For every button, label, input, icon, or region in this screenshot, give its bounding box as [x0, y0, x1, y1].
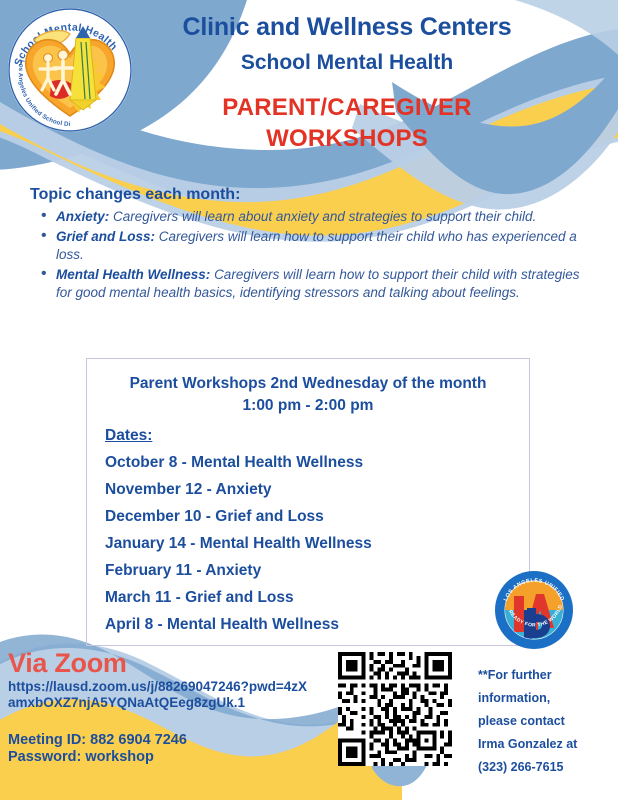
logo-icon: School Mental Health Los Angeles Unified… [4, 4, 136, 136]
schedule-date-row: March 11 - Grief and Loss [105, 589, 529, 607]
topic-description: Caregivers will learn about anxiety and … [113, 209, 536, 224]
zoom-meeting-id: Meeting ID: 882 6904 7246 [8, 732, 328, 749]
contact-line: information, [478, 687, 618, 710]
school-mental-health-logo: School Mental Health Los Angeles Unified… [4, 4, 136, 136]
schedule-date-row: December 10 - Grief and Loss [105, 508, 529, 526]
topics-list: Anxiety: Caregivers will learn about anx… [30, 208, 590, 303]
contact-line: **For further [478, 664, 618, 687]
zoom-password: Password: workshop [8, 749, 328, 766]
schedule-dates-label: Dates: [105, 427, 529, 445]
qr-code[interactable] [338, 650, 452, 768]
topic-item: Mental Health Wellness: Caregivers will … [56, 266, 590, 303]
zoom-heading: Via Zoom [8, 648, 328, 678]
schedule-date-row: October 8 - Mental Health Wellness [105, 454, 529, 472]
schedule-time: 1:00 pm - 2:00 pm [87, 395, 529, 417]
schedule-box: Parent Workshops 2nd Wednesday of the mo… [86, 358, 530, 646]
zoom-info-block: Via Zoom https://lausd.zoom.us/j/8826904… [8, 648, 328, 766]
page-title-workshops-line1: PARENT/CAREGIVER [222, 94, 471, 121]
topic-term: Grief and Loss: [56, 229, 155, 244]
contact-phone: (323) 266-7615 [478, 756, 618, 779]
contact-block: **For further information, please contac… [478, 664, 618, 779]
topics-heading: Topic changes each month: [30, 186, 590, 204]
zoom-meeting-link[interactable]: https://lausd.zoom.us/j/88269047246?pwd=… [8, 679, 308, 710]
lausd-seal-icon: LOS ANGELES UNIFIED READY FOR THE WORLD [494, 570, 574, 650]
schedule-date-row: April 8 - Mental Health Wellness [105, 616, 529, 634]
contact-line: please contact [478, 710, 618, 733]
flyer-page: School Mental Health Los Angeles Unified… [0, 0, 618, 800]
topic-term: Anxiety: [56, 209, 109, 224]
topic-term: Mental Health Wellness: [56, 267, 210, 282]
lausd-seal: LOS ANGELES UNIFIED READY FOR THE WORLD [494, 570, 574, 650]
page-title-workshops: PARENT/CAREGIVER WORKSHOPS [132, 92, 562, 154]
page-title-clinic: Clinic and Wellness Centers [132, 12, 562, 42]
qr-code-icon[interactable] [338, 650, 452, 768]
schedule-date-row: November 12 - Anxiety [105, 481, 529, 499]
schedule-heading: Parent Workshops 2nd Wednesday of the mo… [87, 373, 529, 395]
page-title-workshops-line2: WORKSHOPS [132, 123, 562, 154]
topics-section: Topic changes each month: Anxiety: Careg… [30, 186, 590, 304]
contact-name: Irma Gonzalez at [478, 733, 618, 756]
schedule-date-row: February 11 - Anxiety [105, 562, 529, 580]
page-title-smh: School Mental Health [132, 48, 562, 78]
title-block: Clinic and Wellness Centers School Menta… [132, 12, 562, 154]
topic-item: Anxiety: Caregivers will learn about anx… [56, 208, 590, 227]
schedule-date-row: January 14 - Mental Health Wellness [105, 535, 529, 553]
topic-item: Grief and Loss: Caregivers will learn ho… [56, 228, 590, 265]
